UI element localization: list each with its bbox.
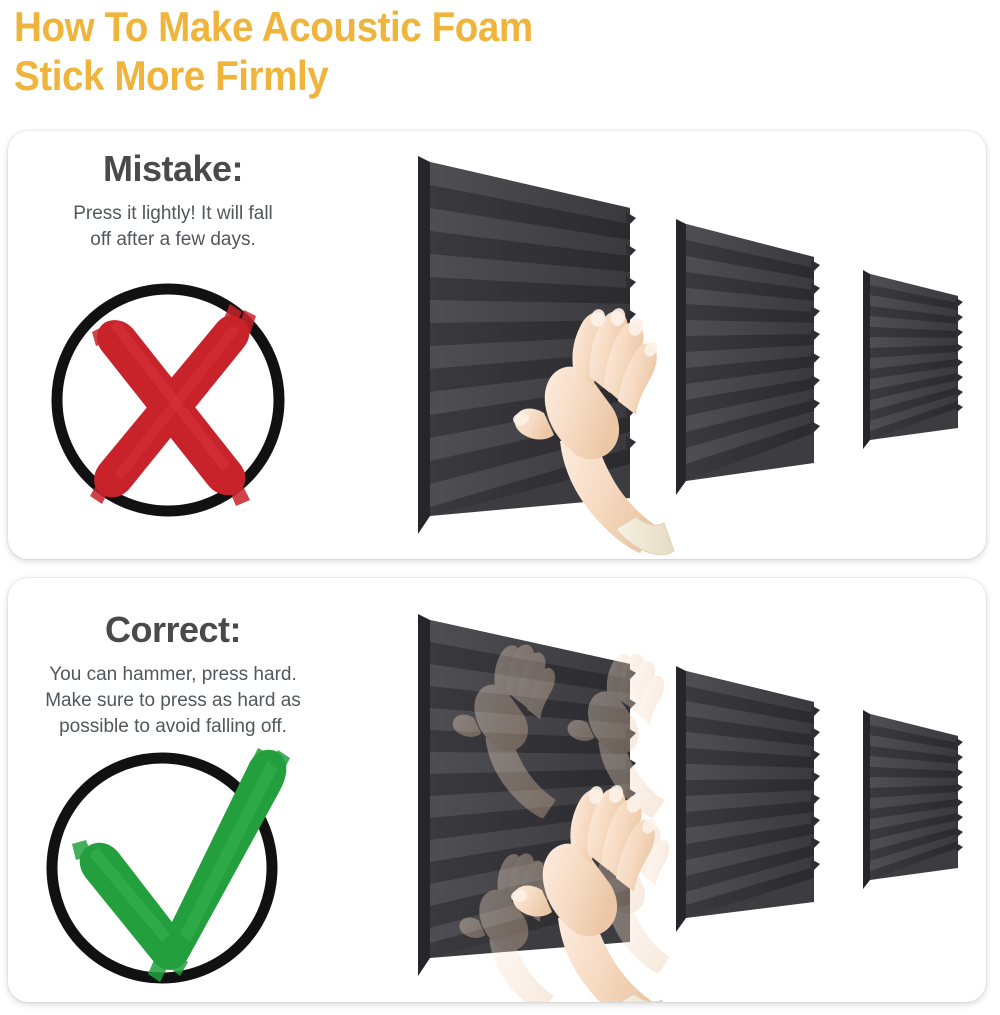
red-cross-badge — [44, 274, 292, 526]
check-mark-icon — [42, 746, 292, 986]
correct-card: Correct: You can hammer, press hard. Mak… — [8, 578, 986, 1002]
mistake-body-line-2: off after a few days. — [8, 227, 338, 253]
correct-text-column: Correct: You can hammer, press hard. Mak… — [8, 578, 338, 740]
title-line-1: How To Make Acoustic Foam — [14, 2, 713, 51]
foam-panel-medium — [672, 660, 824, 940]
foam-panel-small — [860, 266, 970, 456]
pressing-hand — [508, 291, 678, 559]
mistake-body-line-1: Press it lightly! It will fall — [8, 201, 338, 227]
green-check-badge — [42, 746, 292, 986]
correct-body-line-3: possible to avoid falling off. — [8, 714, 338, 740]
x-mark-icon — [44, 274, 292, 526]
mistake-text-column: Mistake: Press it lightly! It will fall … — [8, 131, 338, 253]
correct-heading: Correct: — [8, 610, 338, 650]
title-line-2: Stick More Firmly — [14, 51, 713, 100]
correct-body-line-1: You can hammer, press hard. — [8, 662, 338, 688]
foam-panel-small — [860, 706, 970, 896]
page-title: How To Make Acoustic Foam Stick More Fir… — [14, 2, 774, 100]
mistake-card: Mistake: Press it lightly! It will fall … — [8, 131, 986, 559]
correct-body-line-2: Make sure to press as hard as — [8, 688, 338, 714]
foam-panel-medium — [672, 213, 824, 503]
mistake-heading: Mistake: — [8, 149, 338, 189]
pressing-hand — [506, 768, 676, 1002]
